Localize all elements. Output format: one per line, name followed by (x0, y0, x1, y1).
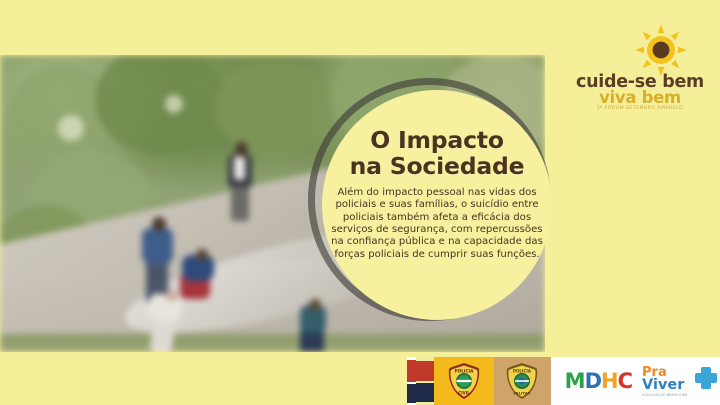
brand-line-2: viva bem (569, 88, 711, 107)
mdhc-letter-c: C (618, 369, 632, 393)
foliage-blob (215, 60, 335, 155)
badge-panel-civil: POLICIA CIVIL (434, 357, 494, 405)
presentation-slide: O Impacto na Sociedade Além do impacto p… (0, 0, 720, 405)
partner-logos-panel: MDHC Pra Viver ASSOCIAÇÃO BRASILEIRA (551, 357, 720, 405)
mdhc-letter-m: M (565, 369, 585, 393)
pra-viver-line-2: Viver (642, 377, 684, 393)
policia-militar-badge: POLICIA MILITAR (505, 362, 539, 400)
brand-logo: cuide-se bem viva bem 3º FÓRUM SETEMBRO … (565, 24, 711, 106)
foliage-highlight (165, 95, 183, 113)
svg-text:POLICIA: POLICIA (455, 369, 474, 374)
svg-text:POLICIA: POLICIA (514, 369, 533, 374)
slide-body-text: Além do impacto pessoal nas vidas dos po… (324, 187, 550, 261)
plus-cross-icon (694, 366, 718, 390)
svg-text:CIVIL: CIVIL (459, 391, 471, 396)
policia-civil-badge: POLICIA CIVIL (447, 362, 481, 400)
mdhc-letter-d: D (585, 369, 601, 393)
foliage-highlight (58, 115, 84, 141)
footer-logo-strip: POLICIA CIVIL POLICIA MILITAR MDHC (407, 357, 720, 405)
brand-tagline: 3º FÓRUM SETEMBRO AMARELO (569, 106, 711, 111)
grass-strip (0, 334, 545, 352)
content-circle: O Impacto na Sociedade Além do impacto p… (322, 90, 552, 320)
badge-panel-militar: POLICIA MILITAR (494, 357, 550, 405)
flag-bar (416, 357, 434, 405)
sun-icon (635, 24, 687, 76)
mdhc-logo: MDHC (565, 369, 632, 393)
slide-title: O Impacto na Sociedade (350, 128, 525, 180)
mdhc-letter-h: H (601, 369, 618, 393)
pra-viver-logo: Pra Viver ASSOCIAÇÃO BRASILEIRA (642, 363, 720, 399)
pra-viver-subtitle: ASSOCIAÇÃO BRASILEIRA (642, 393, 687, 397)
flag-bar-left (407, 357, 416, 405)
svg-text:MILITAR: MILITAR (514, 391, 531, 396)
